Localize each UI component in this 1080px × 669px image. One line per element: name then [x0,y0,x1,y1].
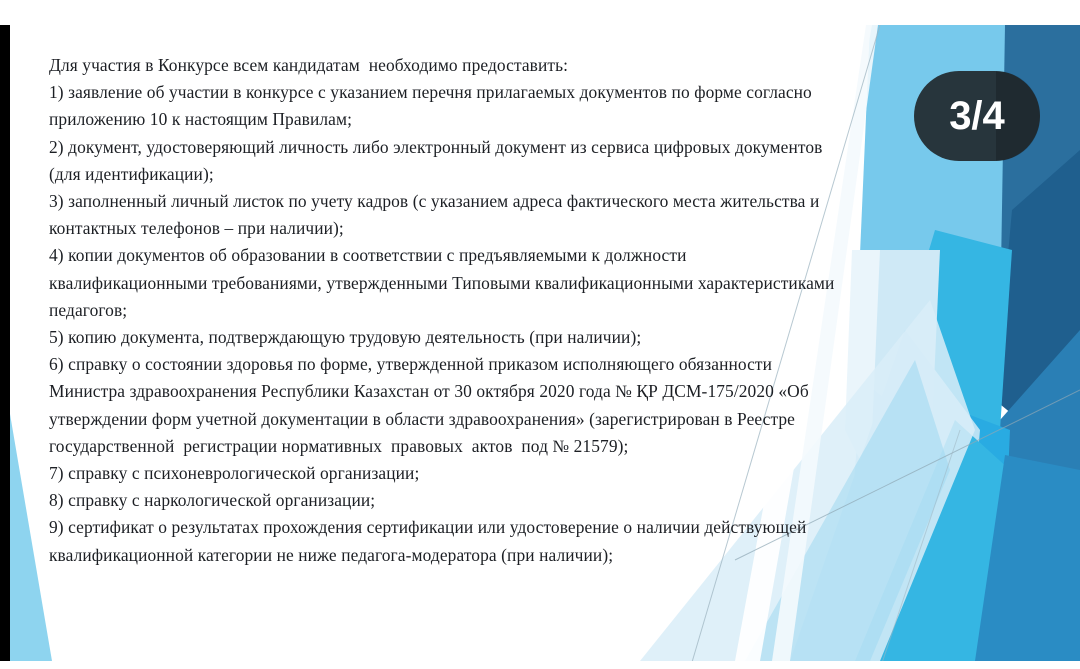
frame-bar-left [0,25,10,661]
frame-bar-top [0,0,1080,25]
shard-sweep-deep [975,455,1080,661]
hairline-diagonal-3 [880,430,960,669]
shard-paler-left [845,250,880,480]
shard-bottom-left [10,414,52,661]
shard-blue-bright-lower [885,400,1010,661]
shard-blue-mid-upper [905,230,1012,470]
body-paragraph: Для участия в Конкурсе всем кандидатам н… [49,52,839,569]
shard-right-navy-low [980,330,1080,661]
presentation-slide: Для участия в Конкурсе всем кандидатам н… [0,0,1080,669]
page-counter-label: 3/4 [949,96,1005,136]
frame-bar-bottom [0,661,1080,669]
shard-sweep-bright [855,420,1010,661]
shard-pale-upper [858,250,940,470]
slide-body-text: Для участия в Конкурсе всем кандидатам н… [49,52,839,569]
shard-right-navy-top [985,25,1080,300]
page-counter-badge: 3/4 [914,71,1040,161]
shard-right-navy-mid [995,150,1080,470]
shard-pale-mid [840,380,935,661]
